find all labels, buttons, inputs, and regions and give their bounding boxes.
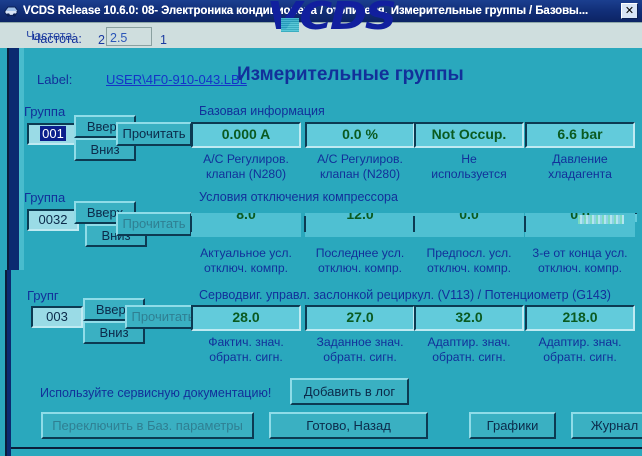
group-3-read-button[interactable]: Прочитать <box>125 305 201 329</box>
group-2-field-1-label-l2: отключ. компр. <box>204 261 288 275</box>
group-2-field-3-tick <box>413 216 415 232</box>
group-2-caption: Группа <box>24 190 65 205</box>
group-3-field-4-label: Адаптир. знач. обратн. сигн. <box>520 335 640 365</box>
group-2-field-4-tick <box>524 216 526 232</box>
group-3-field-4-value: 218.0 <box>525 305 635 331</box>
vcds-logo-mark <box>281 18 299 32</box>
group-3-field-2-value: 27.0 <box>305 305 415 331</box>
group-2-render-noise <box>578 215 624 224</box>
group-1-field-1-label-l2: клапан (N280) <box>206 167 286 181</box>
label-caption: Label: <box>37 72 72 87</box>
group-1-field-3-value: Not Occup. <box>414 122 524 148</box>
group-2-field-1-value: 8.0 <box>191 213 301 237</box>
group-1-field-1-value: 0.000 A <box>191 122 301 148</box>
group-1-field-2-label-l1: A/C Регулиров. <box>317 152 403 166</box>
vcds-main-window: VCDS Release 10.6.0: 08- Электроника кон… <box>0 0 642 456</box>
label-file-link[interactable]: USER\4F0-910-043.LBL <box>106 72 247 87</box>
group-1-field-4-label-l1: Давление <box>552 152 607 166</box>
service-doc-hint: Используйте сервисную документацию! <box>40 386 271 400</box>
group-2-field-3-label: Предпосл. усл. отключ. компр. <box>409 246 529 276</box>
vcds-app-icon <box>4 4 19 18</box>
group-3-field-1-value: 28.0 <box>191 305 301 331</box>
group-3-field-3-value: 32.0 <box>414 305 524 331</box>
group-1-read-button[interactable]: Прочитать <box>116 122 192 146</box>
group-2-field-2-value: 12.0 <box>305 213 415 237</box>
done-back-button[interactable]: Готово, Назад <box>269 412 428 439</box>
bottom-strip <box>11 449 642 456</box>
group-2-field-3-value: 0.0 <box>414 213 524 237</box>
group-1-row-title: Базовая информация <box>199 104 325 118</box>
left-dark-band <box>9 48 19 270</box>
group-1-field-2-label: A/C Регулиров. клапан (N280) <box>300 152 420 182</box>
group-3-field-3-label-l1: Адаптир. знач. <box>427 335 510 349</box>
group-2-field-2-label-l2: отключ. компр. <box>318 261 402 275</box>
close-icon[interactable]: ✕ <box>621 3 638 19</box>
add-to-log-button[interactable]: Добавить в лог <box>290 378 409 405</box>
group-3-field-1-label-l1: Фактич. знач. <box>208 335 284 349</box>
group-1-field-2-label-l2: клапан (N280) <box>320 167 400 181</box>
group-1-caption: Группа <box>24 104 65 119</box>
group-2-row-title: Условия отключения компрессора <box>199 190 398 204</box>
group-3-number-input[interactable]: 003 <box>31 306 83 328</box>
frequency-tick-left: 2 <box>98 33 105 47</box>
group-2-field-2-label-l1: Последнее усл. <box>316 246 405 260</box>
charts-button[interactable]: Графики <box>469 412 556 439</box>
group-3-caption: Групг <box>27 288 59 303</box>
group-2-field-4-label-l1: 3-е от конца усл. <box>532 246 627 260</box>
group-1-field-3-label-l2: используется <box>431 167 506 181</box>
group-1-field-4-label-l2: хладагента <box>548 167 612 181</box>
group-1-field-4-value: 6.6 bar <box>525 122 635 148</box>
group-1-number-input[interactable]: 001 <box>27 123 79 145</box>
frequency-label: Частота: <box>32 32 82 46</box>
left-lower-band <box>7 270 11 456</box>
group-2-field-1-tick <box>190 216 192 232</box>
journal-button[interactable]: Журнал <box>571 412 642 439</box>
group-3-field-4-label-l1: Адаптир. знач. <box>538 335 621 349</box>
group-2-field-1-label: Актуальное усл. отключ. компр. <box>186 246 306 276</box>
group-2-field-1-label-l1: Актуальное усл. <box>200 246 292 260</box>
group-2-read-button[interactable]: Прочитать <box>116 212 192 236</box>
group-3-field-3-label: Адаптир. знач. обратн. сигн. <box>409 335 529 365</box>
switch-to-basic-params-button[interactable]: Переключить в Баз. параметры <box>41 412 254 439</box>
group-2-field-2-tick <box>304 216 306 232</box>
group-1-field-3-label-l1: Не <box>461 152 477 166</box>
group-3-field-3-label-l2: обратн. сигн. <box>432 350 506 364</box>
group-3-field-2-label-l1: Заданное знач. <box>317 335 404 349</box>
group-1-field-1-label-l1: A/C Регулиров. <box>203 152 289 166</box>
group-2-number-input[interactable]: 0032 <box>27 209 79 231</box>
group-1-field-1-label: A/C Регулиров. клапан (N280) <box>186 152 306 182</box>
left-light-band <box>19 48 24 270</box>
group-1-field-4-label: Давление хладагента <box>520 152 640 182</box>
group-2-field-4-label: 3-е от конца усл. отключ. компр. <box>520 246 640 276</box>
group-2-field-4-label-l2: отключ. компр. <box>538 261 622 275</box>
group-3-field-1-label: Фактич. знач. обратн. сигн. <box>186 335 306 365</box>
frequency-tick-right: 1 <box>160 33 167 47</box>
group-3-field-2-label: Заданное знач. обратн. сигн. <box>300 335 420 365</box>
group-2-field-2-label: Последнее усл. отключ. компр. <box>300 246 420 276</box>
group-3-field-4-label-l2: обратн. сигн. <box>543 350 617 364</box>
group-1-field-2-value: 0.0 % <box>305 122 415 148</box>
page-title: Измерительные группы <box>237 64 464 86</box>
frequency-value: 2.5 <box>110 31 127 45</box>
group-3-field-1-label-l2: обратн. сигн. <box>209 350 283 364</box>
group-3-field-2-label-l2: обратн. сигн. <box>323 350 397 364</box>
group-3-row-title: Серводвиг. управл. заслонкой рециркул. (… <box>199 288 611 302</box>
group-2-field-3-label-l1: Предпосл. усл. <box>426 246 511 260</box>
group-1-field-3-label: Не используется <box>409 152 529 182</box>
group-2-field-3-label-l2: отключ. компр. <box>427 261 511 275</box>
